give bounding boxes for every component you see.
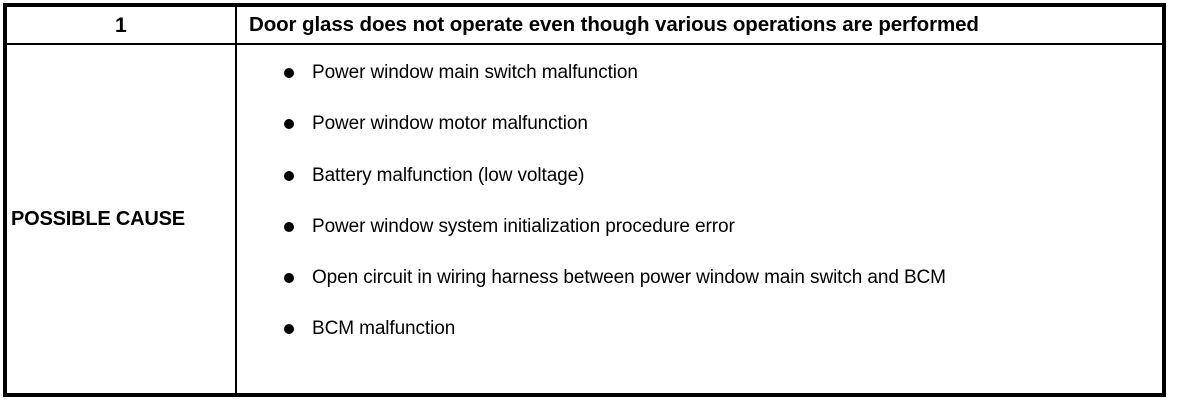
table-body-row: POSSIBLE CAUSE Power window main switch … [7,45,1162,393]
diagnosis-number: 1 [115,15,127,36]
bullet-dot-icon [284,324,294,334]
list-item-label: Power window system initialization proce… [312,214,1112,239]
list-item-label: Open circuit in wiring harness between p… [312,265,1112,290]
symptom-title: Door glass does not operate even though … [249,14,979,37]
list-item-label: Power window motor malfunction [312,111,1112,136]
list-item: BCM malfunction [281,316,1112,341]
possible-cause-label: POSSIBLE CAUSE [11,208,185,230]
bullet-dot-icon [284,222,294,232]
list-item-label: Battery malfunction (low voltage) [312,163,1112,188]
bullet-dot-icon [284,119,294,129]
list-item: Battery malfunction (low voltage) [281,163,1112,188]
table-header-row: 1 Door glass does not operate even thoug… [7,7,1162,45]
list-item: Open circuit in wiring harness between p… [281,265,1112,290]
possible-cause-list: Power window main switch malfunction Pow… [281,60,1148,342]
possible-cause-label-cell: POSSIBLE CAUSE [7,45,237,393]
possible-cause-content-cell: Power window main switch malfunction Pow… [237,45,1162,393]
header-number-cell: 1 [7,7,237,43]
possible-cause-table: 1 Door glass does not operate even thoug… [3,3,1166,397]
page-root: 1 Door glass does not operate even thoug… [0,0,1200,402]
list-item-label: Power window main switch malfunction [312,60,1112,85]
list-item-label: BCM malfunction [312,316,1112,341]
list-item: Power window motor malfunction [281,111,1112,136]
bullet-dot-icon [284,68,294,78]
list-item: Power window system initialization proce… [281,214,1112,239]
bullet-dot-icon [284,171,294,181]
header-title-cell: Door glass does not operate even though … [237,7,1162,43]
bullet-dot-icon [284,273,294,283]
list-item: Power window main switch malfunction [281,60,1112,85]
